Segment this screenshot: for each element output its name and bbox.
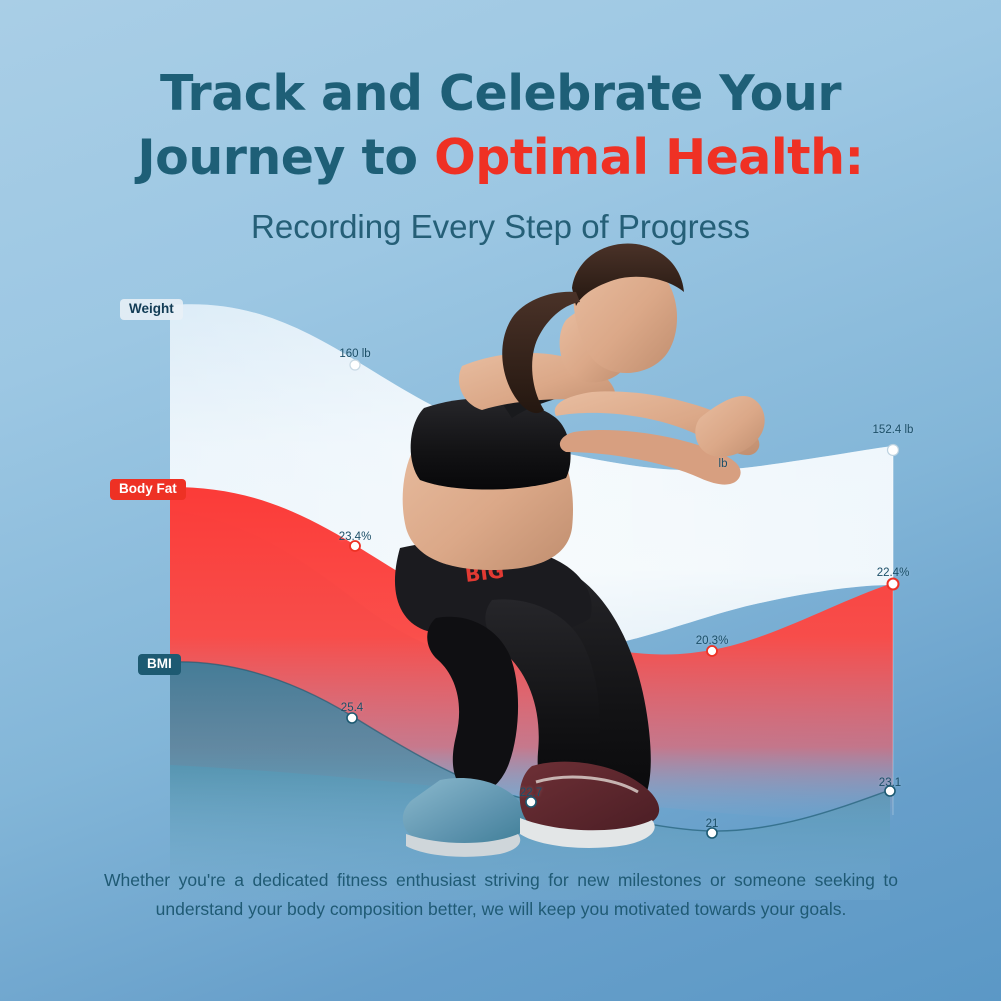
headline-line-2-accent: Optimal Health: [434, 129, 863, 186]
point-label-bodyfat-20-3: 20.3% [696, 635, 729, 647]
poster-canvas: BIG [0, 0, 1001, 1001]
point-label-bmi-23-1: 23.1 [879, 777, 901, 789]
headline-line-2-plain: Journey to [137, 129, 434, 186]
headline-group: Track and Celebrate Your Journey to Opti… [0, 62, 1001, 190]
marker-bodyfat-22-4[interactable] [888, 579, 899, 590]
marker-weight-152-4[interactable] [888, 445, 899, 456]
point-label-weight-mid: lb [719, 458, 728, 470]
point-label-weight-160: 160 lb [339, 348, 370, 360]
series-badge-body-fat[interactable]: Body Fat [110, 479, 186, 500]
marker-bodyfat-20-3[interactable] [707, 646, 717, 656]
marker-bmi-25-4[interactable] [347, 713, 357, 723]
series-badge-weight[interactable]: Weight [120, 299, 183, 320]
point-label-bodyfat-22-4: 22.4% [877, 567, 910, 579]
series-badge-bmi[interactable]: BMI [138, 654, 181, 675]
point-label-weight-152-4: 152.4 lb [873, 424, 914, 436]
headline-line-1: Track and Celebrate Your [0, 62, 1001, 126]
point-label-bodyfat-23-4: 23.4% [339, 531, 372, 543]
point-label-bmi-21: 21 [706, 818, 719, 830]
marker-weight-160[interactable] [350, 360, 360, 370]
headline-line-2: Journey to Optimal Health: [0, 126, 1001, 190]
point-label-bmi-25-4: 25.4 [341, 702, 363, 714]
body-paragraph: Whether you're a dedicated fitness enthu… [104, 866, 898, 924]
subheadline: Recording Every Step of Progress [0, 206, 1001, 248]
point-label-bmi-22-7: 22.7 [520, 787, 542, 799]
